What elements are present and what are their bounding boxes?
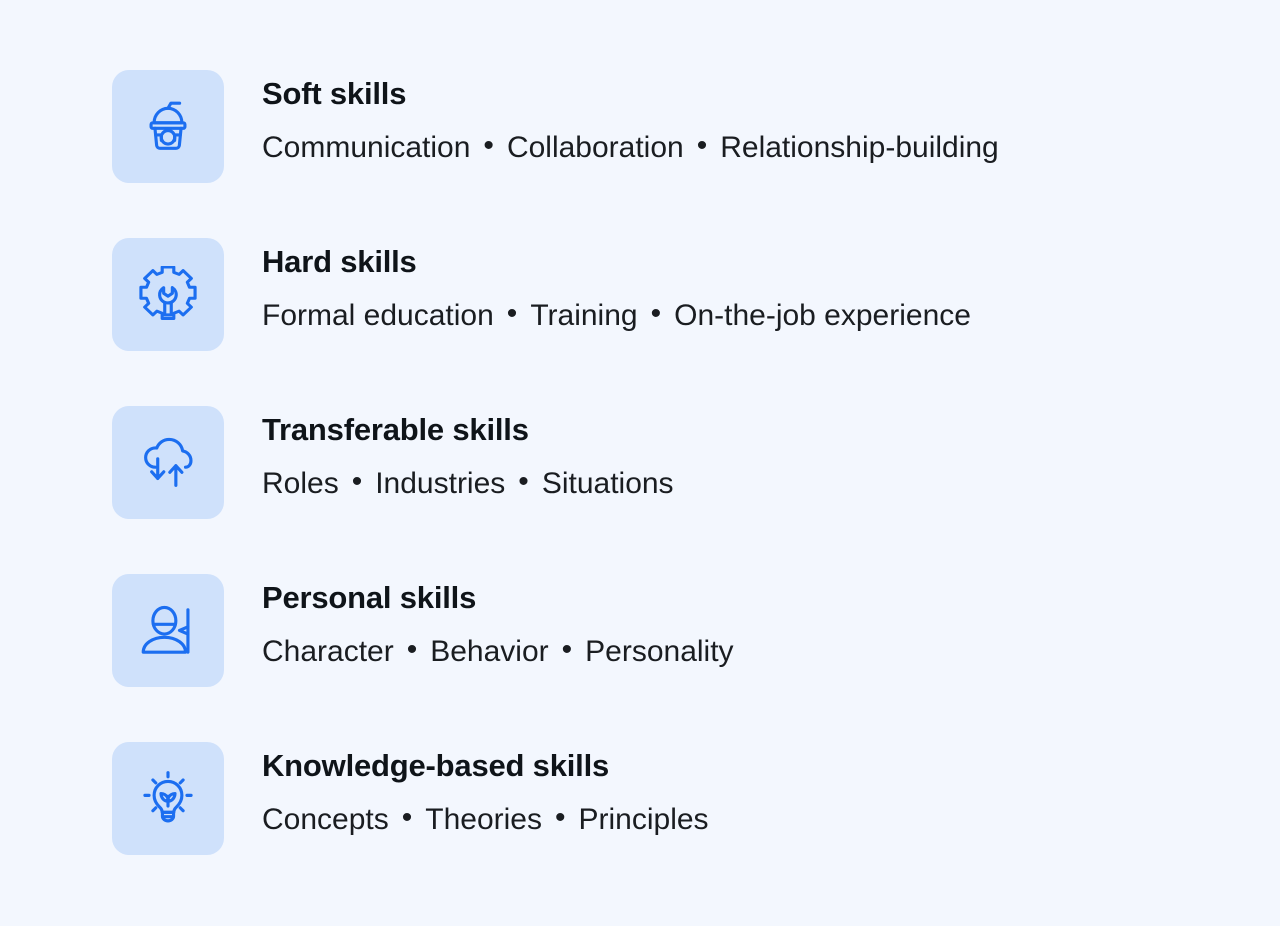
- skill-item: On-the-job experience: [674, 299, 971, 334]
- cloud-transfer-icon: [139, 434, 197, 492]
- bullet-separator-icon: •: [542, 803, 579, 833]
- bullet-separator-icon: •: [389, 803, 426, 833]
- skill-item: Concepts: [262, 803, 389, 838]
- skill-item: Personality: [585, 635, 733, 670]
- skill-item: Theories: [425, 803, 542, 838]
- skill-text-block: Soft skills Communication • Collaboratio…: [262, 70, 999, 165]
- bullet-separator-icon: •: [470, 131, 507, 161]
- skill-item: Character: [262, 635, 394, 670]
- skills-list: Soft skills Communication • Collaboratio…: [112, 70, 1212, 855]
- skill-item: Relationship-building: [720, 131, 999, 166]
- bullet-separator-icon: •: [394, 635, 431, 665]
- list-item: Knowledge-based skills Concepts • Theori…: [112, 742, 1212, 855]
- list-item: Transferable skills Roles • Industries •…: [112, 406, 1212, 519]
- skill-items: Concepts • Theories • Principles: [262, 803, 709, 838]
- skill-items: Roles • Industries • Situations: [262, 467, 674, 502]
- skill-item: Situations: [542, 467, 674, 502]
- skill-items: Character • Behavior • Personality: [262, 635, 734, 670]
- skill-item: Training: [530, 299, 637, 334]
- drink-cup-icon: [139, 98, 197, 156]
- bullet-separator-icon: •: [549, 635, 586, 665]
- skill-item: Roles: [262, 467, 339, 502]
- icon-tile-knowledge-based-skills: [112, 742, 224, 855]
- skill-item: Principles: [579, 803, 709, 838]
- bullet-separator-icon: •: [684, 131, 721, 161]
- lightbulb-leaf-icon: [139, 770, 197, 828]
- gear-wrench-icon: [139, 266, 197, 324]
- skill-title: Soft skills: [262, 76, 999, 112]
- skill-text-block: Knowledge-based skills Concepts • Theori…: [262, 742, 709, 837]
- skill-items: Communication • Collaboration • Relation…: [262, 131, 999, 166]
- bullet-separator-icon: •: [339, 467, 376, 497]
- icon-tile-soft-skills: [112, 70, 224, 183]
- bullet-separator-icon: •: [505, 467, 542, 497]
- skill-title: Personal skills: [262, 580, 734, 616]
- skill-text-block: Personal skills Character • Behavior • P…: [262, 574, 734, 669]
- skill-item: Behavior: [430, 635, 548, 670]
- skill-item: Industries: [375, 467, 505, 502]
- list-item: Soft skills Communication • Collaboratio…: [112, 70, 1212, 183]
- bullet-separator-icon: •: [494, 299, 531, 329]
- skill-item: Formal education: [262, 299, 494, 334]
- icon-tile-hard-skills: [112, 238, 224, 351]
- skill-text-block: Hard skills Formal education • Training …: [262, 238, 971, 333]
- icon-tile-personal-skills: [112, 574, 224, 687]
- list-item: Personal skills Character • Behavior • P…: [112, 574, 1212, 687]
- skill-item: Communication: [262, 131, 470, 166]
- icon-tile-transferable-skills: [112, 406, 224, 519]
- skill-title: Knowledge-based skills: [262, 748, 709, 784]
- skill-items: Formal education • Training • On-the-job…: [262, 299, 971, 334]
- person-measure-icon: [139, 602, 197, 660]
- skill-text-block: Transferable skills Roles • Industries •…: [262, 406, 674, 501]
- skill-item: Collaboration: [507, 131, 684, 166]
- skill-title: Transferable skills: [262, 412, 674, 448]
- list-item: Hard skills Formal education • Training …: [112, 238, 1212, 351]
- skill-title: Hard skills: [262, 244, 971, 280]
- bullet-separator-icon: •: [638, 299, 675, 329]
